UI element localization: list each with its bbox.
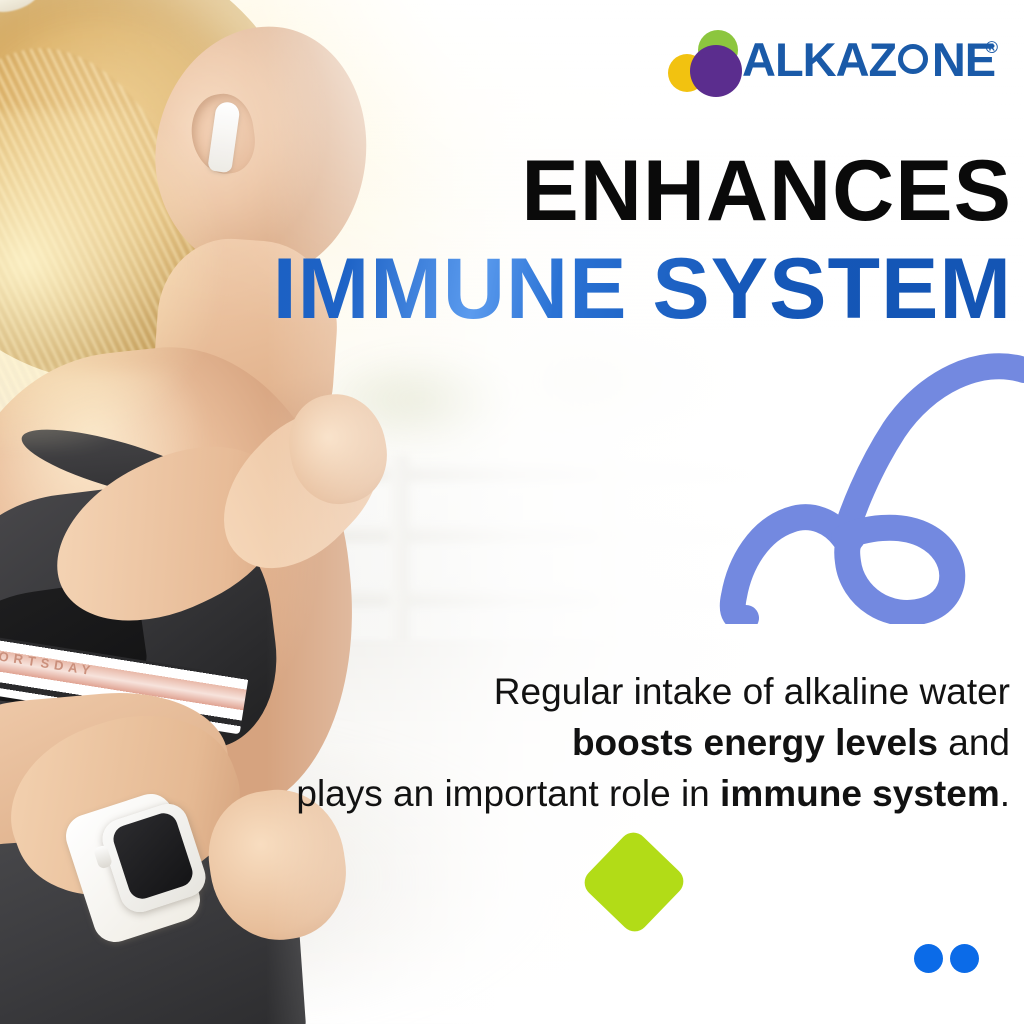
headline-block: ENHANCES IMMUNE SYSTEM (0, 148, 1012, 332)
blue-dot (950, 944, 979, 973)
registered-trademark-icon: ® (985, 38, 998, 58)
body-line-1: Regular intake of alkaline water (180, 666, 1010, 717)
blue-loop-swoosh-icon (712, 352, 1024, 624)
purple-circle-icon (690, 45, 742, 97)
body-copy: Regular intake of alkaline water boosts … (180, 666, 1010, 819)
body-line-2-tail: and (938, 722, 1010, 763)
promo-poster: SPORTSDAY ALKAZONE ® ENHANCES IMM (0, 0, 1024, 1024)
body-line-2: boosts energy levels and (180, 717, 1010, 768)
body-line-2-bold: boosts energy levels (572, 722, 938, 763)
headline-line-1: ENHANCES (0, 148, 1012, 234)
body-line-3-lead: plays an important role in (296, 773, 720, 814)
brand-wordmark: ALKAZONE (742, 36, 995, 83)
body-line-3: plays an important role in immune system… (180, 768, 1010, 819)
brand-logo[interactable]: ALKAZONE ® (668, 24, 998, 94)
blue-dot (914, 944, 943, 973)
body-line-3-period: . (1000, 773, 1010, 814)
logo-o-ring: O (896, 36, 932, 83)
headline-line-2: IMMUNE SYSTEM (0, 246, 1012, 332)
blue-dots-group (914, 944, 984, 974)
body-line-1-text: Regular intake of alkaline water (494, 671, 1010, 712)
body-line-3-bold: immune system (720, 773, 1000, 814)
